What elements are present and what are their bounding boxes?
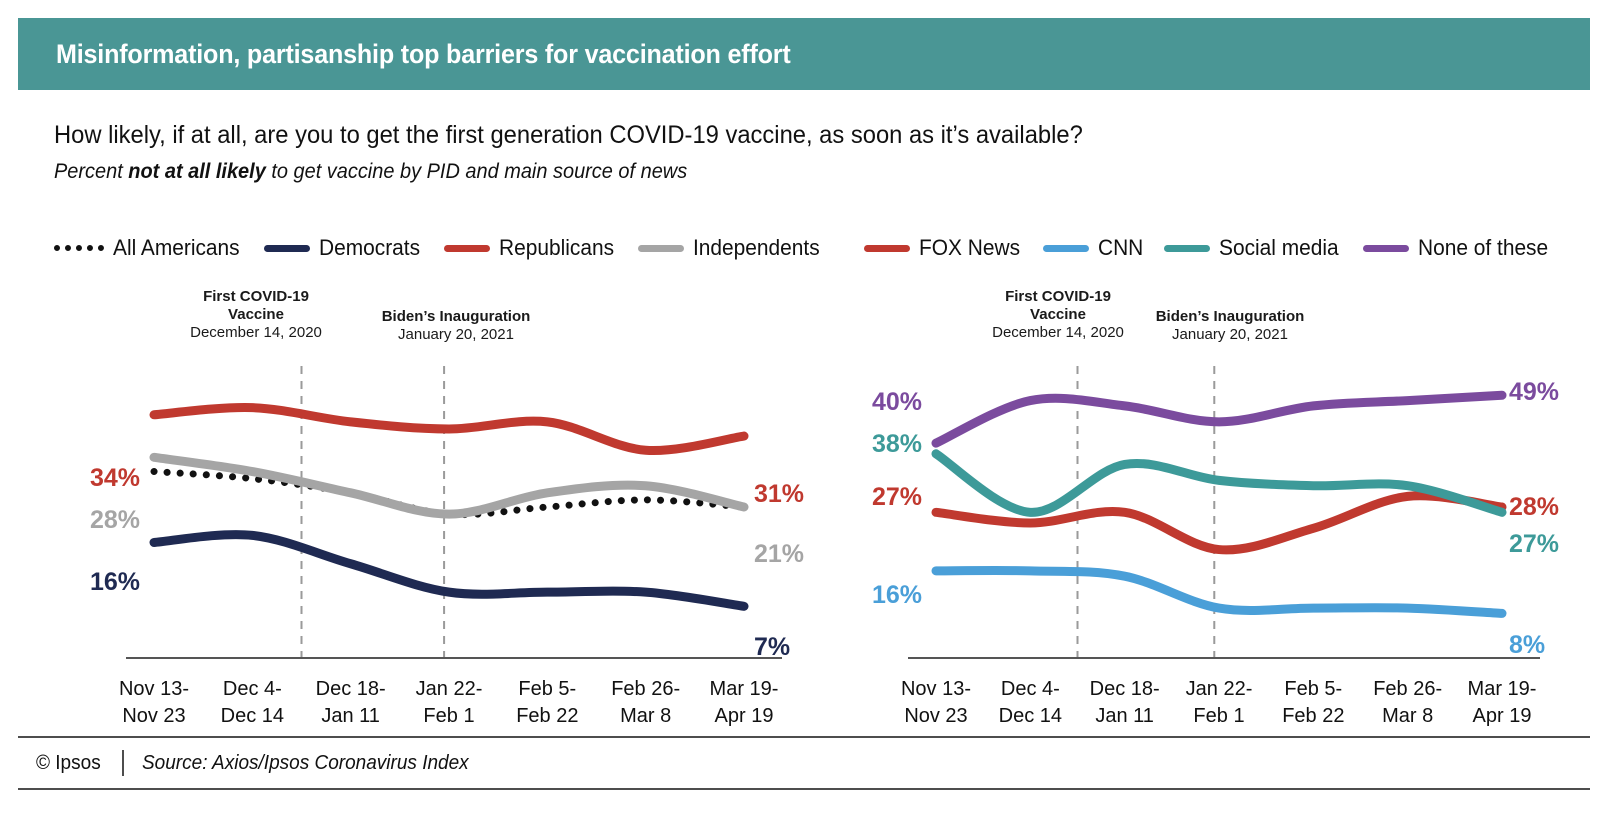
value-label-social-start: 38% [872, 430, 922, 459]
charts-container: All Americans Democrats Republicans Inde… [0, 228, 1608, 728]
survey-subtitle: Percent not at all likely to get vaccine… [54, 157, 1479, 187]
chart-panel-pid: All Americans Democrats Republicans Inde… [54, 228, 814, 728]
annotation-inauguration: Biden’s Inauguration January 20, 2021 [382, 308, 531, 344]
x-tick-line: Feb 1 [416, 703, 483, 730]
value-label-democrats-end: 7% [754, 633, 790, 662]
x-tick-line: Feb 26- [611, 676, 680, 703]
legend-swatch-icon [864, 245, 910, 252]
series-line-cnn [936, 570, 1502, 613]
value-label-fox-end: 28% [1509, 493, 1559, 522]
series-line-republicans [154, 408, 744, 451]
annotation-title-line2: Vaccine [992, 306, 1124, 324]
x-tick-line: Mar 19- [1468, 676, 1537, 703]
legend-item-republicans[interactable]: Republicans [444, 235, 620, 261]
series-line-independents [154, 457, 744, 514]
page-title: Misinformation, partisanship top barrier… [56, 39, 791, 70]
legend-item-cnn[interactable]: CNN [1043, 235, 1146, 261]
legend-label: Independents [693, 235, 820, 261]
legend-swatch-icon [444, 245, 490, 252]
footer-copyright: © Ipsos [36, 752, 101, 775]
annotation-date: December 14, 2020 [992, 324, 1124, 342]
legend-swatch-icon [1164, 245, 1210, 252]
plot-area-pid: First COVID-19 Vaccine December 14, 2020… [54, 268, 814, 668]
legend-pid: All Americans Democrats Republicans Inde… [54, 228, 814, 268]
value-label-none-end: 49% [1509, 378, 1559, 407]
x-tick-line: Apr 19 [710, 703, 779, 730]
header-bar: Misinformation, partisanship top barrier… [18, 18, 1590, 90]
x-tick-line: Nov 23 [119, 703, 189, 730]
value-label-cnn-start: 16% [872, 581, 922, 610]
x-tick-label: Dec 18-Jan 11 [1090, 676, 1160, 730]
series-line-democrats [154, 535, 744, 607]
legend-label: Social media [1219, 235, 1339, 261]
value-label-republicans-end: 31% [754, 480, 804, 509]
x-tick-line: Mar 19- [710, 676, 779, 703]
legend-item-none-of-these[interactable]: None of these [1363, 235, 1555, 261]
legend-swatch-icon [1363, 245, 1409, 252]
x-tick-line: Dec 18- [316, 676, 386, 703]
x-tick-line: Nov 13- [901, 676, 971, 703]
xaxis-pid: Nov 13-Nov 23Dec 4-Dec 14Dec 18-Jan 11Ja… [54, 668, 814, 738]
annotation-date: January 20, 2021 [382, 326, 531, 344]
plot-area-news: First COVID-19 Vaccine December 14, 2020… [864, 268, 1574, 668]
value-label-independents-start: 28% [90, 506, 140, 535]
value-label-none-start: 40% [872, 388, 922, 417]
survey-question: How likely, if at all, are you to get th… [54, 118, 1479, 152]
x-tick-label: Dec 4-Dec 14 [221, 676, 284, 730]
legend-swatch-icon [1043, 245, 1089, 252]
x-tick-label: Feb 5-Feb 22 [1282, 676, 1344, 730]
x-tick-line: Mar 8 [1373, 703, 1442, 730]
legend-item-social-media[interactable]: Social media [1164, 235, 1345, 261]
x-tick-label: Mar 19-Apr 19 [710, 676, 779, 730]
x-tick-line: Dec 4- [999, 676, 1062, 703]
x-tick-label: Jan 22-Feb 1 [416, 676, 483, 730]
legend-item-fox-news[interactable]: FOX News [864, 235, 1025, 261]
legend-label: None of these [1418, 235, 1548, 261]
x-tick-label: Dec 4-Dec 14 [999, 676, 1062, 730]
legend-label: Republicans [499, 235, 614, 261]
annotation-title-line2: Vaccine [190, 306, 322, 324]
footer-source: Source: Axios/Ipsos Coronavirus Index [142, 752, 469, 775]
annotation-title-line1: Biden’s Inauguration [382, 308, 531, 326]
series-line-fox-news [936, 496, 1502, 550]
x-tick-line: Dec 14 [999, 703, 1062, 730]
value-label-cnn-end: 8% [1509, 631, 1545, 660]
x-tick-label: Feb 5-Feb 22 [516, 676, 578, 730]
legend-swatch-dotted-icon [54, 245, 104, 251]
value-label-social-end: 27% [1509, 530, 1559, 559]
x-tick-label: Nov 13-Nov 23 [901, 676, 971, 730]
series-line-none-of-these [936, 395, 1502, 443]
x-tick-line: Nov 23 [901, 703, 971, 730]
legend-news: FOX News CNN Social media None of these [864, 228, 1574, 268]
x-tick-line: Feb 5- [516, 676, 578, 703]
annotation-date: January 20, 2021 [1156, 326, 1305, 344]
value-label-fox-start: 27% [872, 483, 922, 512]
legend-label: CNN [1098, 235, 1143, 261]
x-tick-label: Nov 13-Nov 23 [119, 676, 189, 730]
x-tick-line: Jan 22- [416, 676, 483, 703]
footer: © Ipsos Source: Axios/Ipsos Coronavirus … [18, 736, 1590, 790]
subtitle-suffix: to get vaccine by PID and main source of… [266, 160, 687, 183]
x-tick-line: Jan 22- [1186, 676, 1253, 703]
x-tick-line: Feb 5- [1282, 676, 1344, 703]
legend-item-democrats[interactable]: Democrats [264, 235, 425, 261]
subtitle-emphasis: not at all likely [128, 160, 265, 183]
legend-swatch-icon [638, 245, 684, 252]
x-tick-line: Dec 18- [1090, 676, 1160, 703]
x-tick-label: Mar 19-Apr 19 [1468, 676, 1537, 730]
x-tick-line: Apr 19 [1468, 703, 1537, 730]
annotation-date: December 14, 2020 [190, 324, 322, 342]
x-tick-label: Jan 22-Feb 1 [1186, 676, 1253, 730]
x-tick-line: Dec 4- [221, 676, 284, 703]
series-line-all-americans [154, 472, 744, 515]
annotation-title-line1: First COVID-19 [190, 288, 322, 306]
annotation-inauguration: Biden’s Inauguration January 20, 2021 [1156, 308, 1305, 344]
x-tick-label: Feb 26-Mar 8 [611, 676, 680, 730]
legend-label: FOX News [919, 235, 1020, 261]
legend-label: All Americans [113, 235, 240, 261]
x-tick-line: Feb 22 [1282, 703, 1344, 730]
x-tick-label: Feb 26-Mar 8 [1373, 676, 1442, 730]
footer-divider [122, 750, 124, 776]
annotation-first-vaccine: First COVID-19 Vaccine December 14, 2020 [190, 288, 322, 342]
chart-panel-news: FOX News CNN Social media None of these … [864, 228, 1574, 728]
legend-item-all-americans[interactable]: All Americans [54, 235, 246, 261]
x-tick-line: Feb 22 [516, 703, 578, 730]
x-tick-line: Nov 13- [119, 676, 189, 703]
value-label-democrats-start: 16% [90, 568, 140, 597]
annotation-title-line1: Biden’s Inauguration [1156, 308, 1305, 326]
subtitle-prefix: Percent [54, 160, 128, 183]
annotation-first-vaccine: First COVID-19 Vaccine December 14, 2020 [992, 288, 1124, 342]
x-tick-line: Jan 11 [1090, 703, 1160, 730]
x-tick-line: Mar 8 [611, 703, 680, 730]
legend-swatch-icon [264, 245, 310, 252]
series-line-social-media [936, 454, 1502, 513]
xaxis-news: Nov 13-Nov 23Dec 4-Dec 14Dec 18-Jan 11Ja… [864, 668, 1574, 738]
legend-item-independents[interactable]: Independents [638, 235, 826, 261]
question-block: How likely, if at all, are you to get th… [54, 118, 1554, 187]
legend-label: Democrats [319, 235, 420, 261]
value-label-independents-end: 21% [754, 540, 804, 569]
x-tick-line: Dec 14 [221, 703, 284, 730]
x-tick-line: Jan 11 [316, 703, 386, 730]
x-tick-label: Dec 18-Jan 11 [316, 676, 386, 730]
annotation-title-line1: First COVID-19 [992, 288, 1124, 306]
value-label-republicans-start: 34% [90, 464, 140, 493]
x-tick-line: Feb 26- [1373, 676, 1442, 703]
x-tick-line: Feb 1 [1186, 703, 1253, 730]
